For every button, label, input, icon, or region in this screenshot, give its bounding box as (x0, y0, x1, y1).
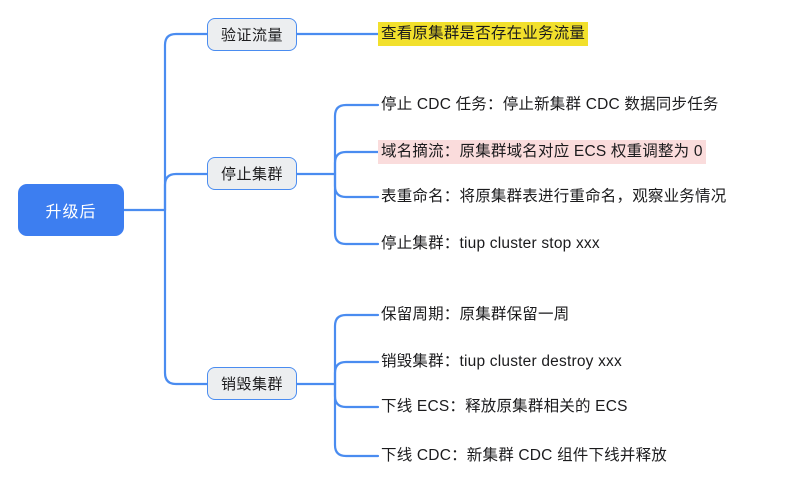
wire-branch3-leaf-3 (335, 384, 378, 407)
leaf-node-label: 下线 ECS：释放原集群相关的 ECS (378, 395, 631, 419)
wire-branch3-leaf-4 (335, 384, 378, 456)
wire-branch3-leaf-2 (335, 362, 378, 384)
wire-root-to-branch-2 (165, 174, 207, 210)
branch-node-label: 停止集群 (221, 163, 283, 184)
leaf-node[interactable]: 销毁集群：tiup cluster destroy xxx (378, 350, 625, 374)
branch-node-verify-traffic[interactable]: 验证流量 (207, 18, 297, 51)
leaf-node-label: 表重命名：将原集群表进行重命名，观察业务情况 (378, 185, 729, 209)
wire-branch2-leaf-2 (335, 152, 378, 174)
leaf-node[interactable]: 域名摘流：原集群域名对应 ECS 权重调整为 0 (378, 140, 706, 164)
leaf-node-label: 下线 CDC：新集群 CDC 组件下线并释放 (378, 444, 670, 468)
leaf-node[interactable]: 停止集群：tiup cluster stop xxx (378, 232, 603, 256)
leaf-node-label: 查看原集群是否存在业务流量 (378, 22, 588, 46)
leaf-node[interactable]: 停止 CDC 任务：停止新集群 CDC 数据同步任务 (378, 93, 722, 117)
branch-node-label: 销毁集群 (221, 373, 283, 394)
wire-branch2-leaf-1 (335, 105, 378, 174)
root-node[interactable]: 升级后 (18, 184, 124, 236)
leaf-node-label: 域名摘流：原集群域名对应 ECS 权重调整为 0 (378, 140, 706, 164)
leaf-node-label: 销毁集群：tiup cluster destroy xxx (378, 350, 625, 374)
branch-node-stop-cluster[interactable]: 停止集群 (207, 157, 297, 190)
branch-node-destroy-cluster[interactable]: 销毁集群 (207, 367, 297, 400)
leaf-node[interactable]: 下线 ECS：释放原集群相关的 ECS (378, 395, 631, 419)
wire-branch2-leaf-4 (335, 174, 378, 244)
leaf-node[interactable]: 查看原集群是否存在业务流量 (378, 22, 588, 46)
leaf-node[interactable]: 保留周期：原集群保留一周 (378, 303, 572, 327)
leaf-node[interactable]: 表重命名：将原集群表进行重命名，观察业务情况 (378, 185, 729, 209)
leaf-node[interactable]: 下线 CDC：新集群 CDC 组件下线并释放 (378, 444, 670, 468)
leaf-node-label: 保留周期：原集群保留一周 (378, 303, 572, 327)
branch-node-label: 验证流量 (221, 24, 283, 45)
wire-branch2-leaf-3 (335, 174, 378, 197)
root-node-label: 升级后 (45, 198, 96, 222)
leaf-node-label: 停止 CDC 任务：停止新集群 CDC 数据同步任务 (378, 93, 722, 117)
leaf-node-label: 停止集群：tiup cluster stop xxx (378, 232, 603, 256)
wire-root-to-branch-1 (165, 34, 207, 210)
wire-branch3-leaf-1 (335, 315, 378, 384)
mindmap-canvas: 升级后 验证流量 停止集群 销毁集群 查看原集群是否存在业务流量 停止 CDC … (0, 0, 799, 488)
wire-root-to-branch-3 (165, 210, 207, 384)
